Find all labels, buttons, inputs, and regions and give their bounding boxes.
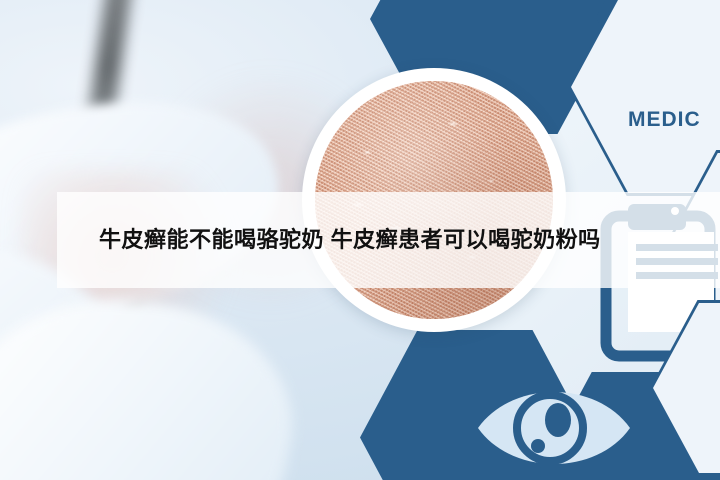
medic-wordmark: MEDIC <box>628 108 701 132</box>
eye-icon <box>474 372 634 480</box>
headline-text: 牛皮癣能不能喝骆驼奶 牛皮癣患者可以喝驼奶粉吗 <box>57 222 720 258</box>
article-cover-image: MEDIC <box>0 0 720 480</box>
headline-band: 牛皮癣能不能喝骆驼奶 牛皮癣患者可以喝驼奶粉吗 <box>57 192 720 288</box>
